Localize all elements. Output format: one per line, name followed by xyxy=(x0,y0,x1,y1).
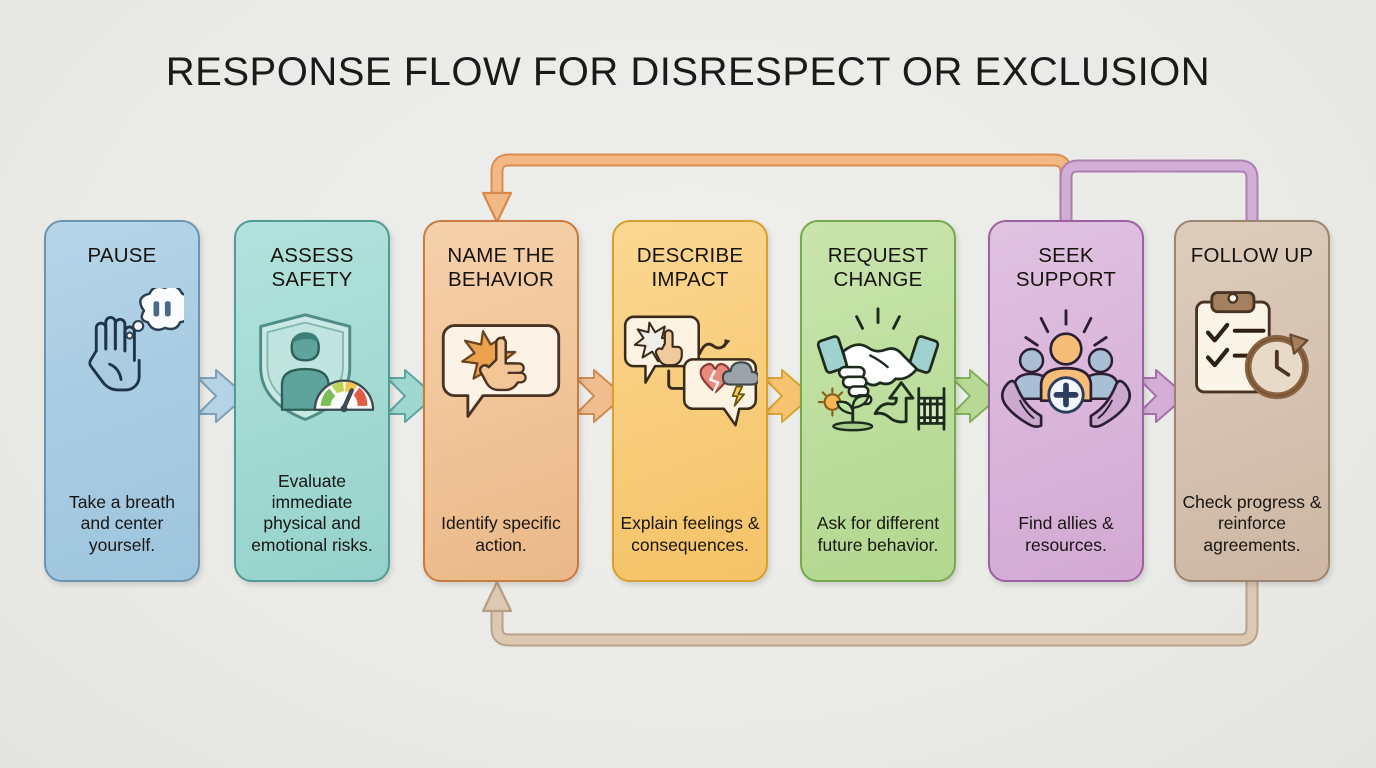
step-description: Explain feelings & consequences. xyxy=(620,513,760,556)
step-heading: PAUSE xyxy=(88,244,157,268)
step-card-describe-impact[interactable]: DESCRIBE IMPACT Explain feel xyxy=(612,220,768,582)
hand-stop-with-pause-thought-bubble-icon xyxy=(60,282,184,412)
speech-bubble-pointing-hand-burst-icon xyxy=(439,306,563,436)
step-card-follow-up[interactable]: FOLLOW UP Check progress & reinforce agr… xyxy=(1174,220,1330,582)
step-description: Identify specific action. xyxy=(431,513,571,556)
step-heading: FOLLOW UP xyxy=(1191,244,1314,268)
step-description: Ask for different future behavior. xyxy=(808,513,948,556)
speech-bubbles-broken-heart-storm-cloud-icon xyxy=(622,306,758,436)
hands-holding-people-plus-icon xyxy=(999,306,1133,436)
step-card-assess-safety[interactable]: ASSESS SAFETY Evaluate immediate xyxy=(234,220,390,582)
step-heading: DESCRIBE IMPACT xyxy=(622,244,758,292)
loop-seek-support-to-name-the-behavior xyxy=(483,160,1066,222)
clipboard-checklist-clock-refresh-icon xyxy=(1187,282,1317,412)
step-description: Evaluate immediate physical and emotiona… xyxy=(242,471,382,556)
shield-person-with-risk-gauge-icon xyxy=(249,306,375,436)
step-description: Find allies & resources. xyxy=(996,513,1136,556)
step-card-request-change[interactable]: REQUEST CHANGE xyxy=(800,220,956,582)
diagram-canvas: Response Flow for Disrespect or Exclusio… xyxy=(0,0,1376,768)
handshake-sprout-gate-icon xyxy=(810,306,946,436)
step-heading: ASSESS SAFETY xyxy=(244,244,380,292)
step-description: Check progress & reinforce agreements. xyxy=(1182,492,1322,556)
loop-follow-up-to-seek-support xyxy=(1066,166,1252,222)
step-card-name-the-behavior[interactable]: NAME THE BEHAVIOR Identify specific acti… xyxy=(423,220,579,582)
step-heading: SEEK SUPPORT xyxy=(998,244,1134,292)
step-heading: REQUEST CHANGE xyxy=(810,244,946,292)
step-heading: NAME THE BEHAVIOR xyxy=(433,244,569,292)
loop-follow-up-to-name-the-behavior xyxy=(483,582,1252,640)
step-card-seek-support[interactable]: SEEK SUPPORT xyxy=(988,220,1144,582)
step-card-pause[interactable]: PAUSE Take a br xyxy=(44,220,200,582)
step-description: Take a breath and center yourself. xyxy=(52,492,192,556)
